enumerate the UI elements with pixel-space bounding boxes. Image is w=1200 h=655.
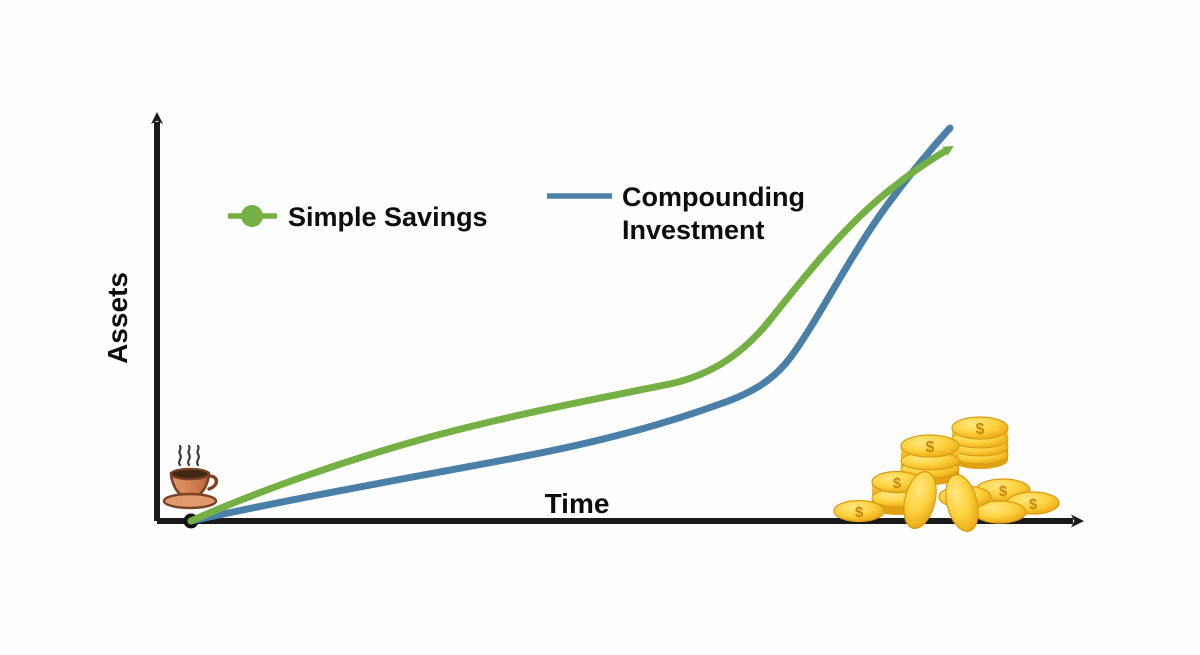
cup-saucer	[164, 494, 216, 508]
legend-marker-circle-simple-savings	[241, 205, 263, 227]
coffee-surface	[171, 469, 209, 479]
legend-label-compounding-investment-line1: Compounding	[622, 182, 805, 212]
legend-item-simple-savings[interactable]: Simple Savings	[228, 202, 488, 232]
legend-label-simple-savings: Simple Savings	[288, 202, 488, 232]
chart-legend: Simple Savings Compounding Investment	[228, 182, 805, 245]
line-compounding-investment	[191, 128, 950, 521]
svg-text:$: $	[855, 504, 864, 521]
series-compounding-investment	[191, 128, 950, 521]
coffee-cup-icon	[164, 446, 216, 508]
svg-text:$: $	[976, 421, 985, 438]
gold-coins-pile-icon: $ $ $ $ $	[834, 417, 1059, 535]
legend-label-compounding-investment-line2: Investment	[622, 215, 765, 245]
compound-interest-line-chart: Assets Time $	[0, 0, 1200, 655]
svg-text:$: $	[1029, 496, 1038, 513]
x-axis-label: Time	[545, 488, 610, 519]
coin-stack-tall-right: $	[952, 417, 1008, 469]
legend-item-compounding-investment[interactable]: Compounding Investment	[547, 182, 805, 245]
coffee-steam-icon	[179, 446, 199, 465]
y-axis-label: Assets	[102, 272, 133, 364]
svg-text:$: $	[893, 475, 902, 492]
svg-text:$: $	[926, 439, 935, 456]
svg-text:$: $	[999, 483, 1008, 500]
chart-canvas: Assets Time $	[0, 0, 1200, 655]
